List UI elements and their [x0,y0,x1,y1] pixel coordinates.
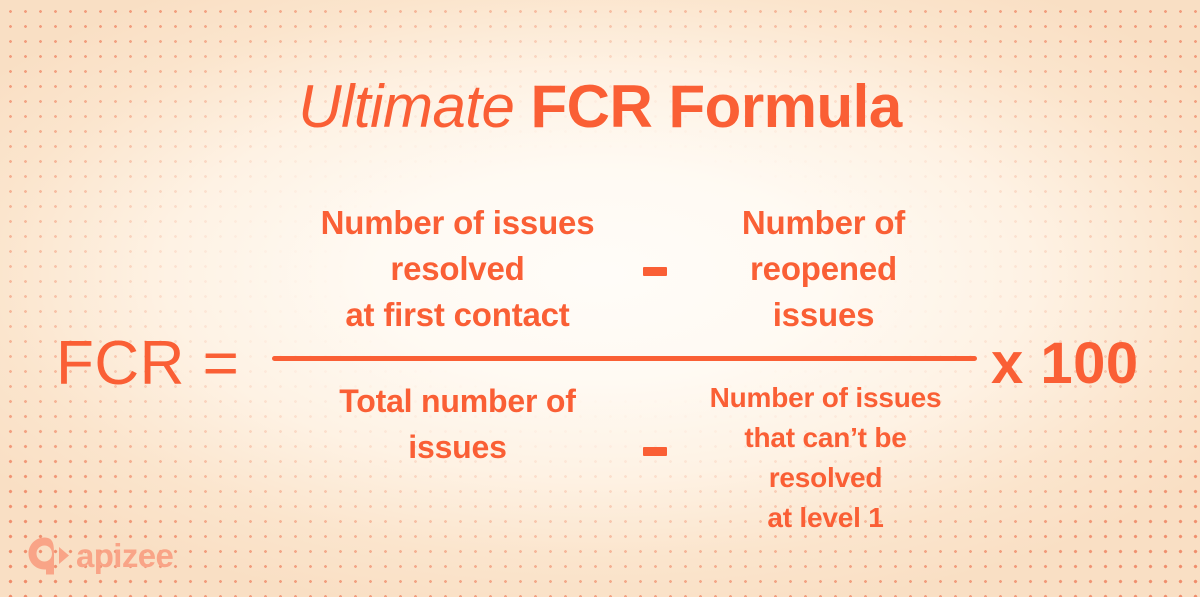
formula-left-hand-side: FCR = [56,329,239,399]
formula-block: FCR = Number of issues resolved at first… [0,0,1200,597]
numerator-right-term: Number of reopened issues [686,200,961,338]
fcr-formula-infographic: Ultimate FCR Formula FCR = Number of iss… [0,0,1200,597]
fraction-bar [272,356,977,361]
numerator-left-term: Number of issues resolved at first conta… [285,200,630,338]
apizee-logo: apizee [26,535,173,577]
numerator-minus-icon [643,267,667,276]
denominator-minus-icon [643,447,667,456]
denominator-right-term: Number of issues that can’t be resolved … [678,378,973,538]
apizee-wordmark: apizee [76,539,173,573]
formula-multiplier: x 100 [991,331,1139,397]
denominator-left-term: Total number of issues [290,378,625,470]
apizee-a-mark-icon [26,535,72,577]
